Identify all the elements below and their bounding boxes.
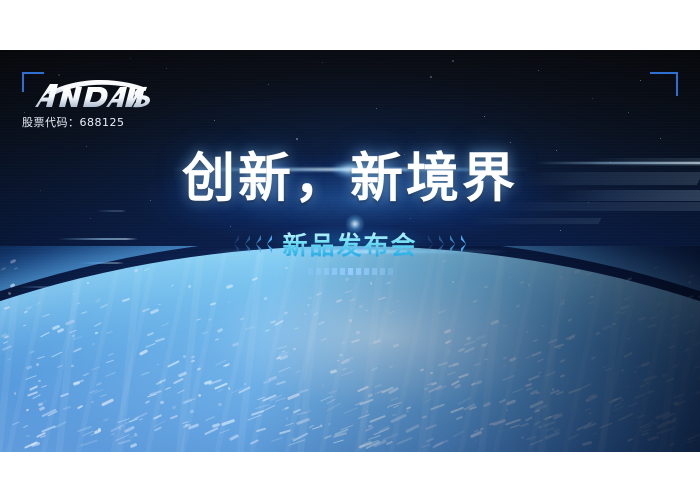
tick-dash: [356, 268, 361, 275]
chevron-right-icon: [450, 234, 459, 254]
star: [538, 70, 539, 71]
page-title: 创新，新境界: [0, 152, 700, 205]
tick-dash: [372, 268, 377, 275]
presentation-slide: 股票代码：688125 创新，新境界 新品发布会: [0, 50, 700, 452]
star: [130, 58, 131, 59]
star: [322, 62, 323, 63]
chevron-left-group: [230, 234, 272, 254]
chevron-right-icon: [461, 234, 470, 254]
star: [640, 80, 641, 81]
tick-dash: [388, 268, 393, 275]
stock-code-label: 股票代码：688125: [22, 114, 125, 130]
star: [452, 60, 454, 62]
subtitle-row: 新品发布会: [0, 226, 700, 262]
hero-title-zone: 创新，新境界 新品发布会: [0, 130, 700, 310]
page-margin-top: [0, 0, 700, 50]
star: [214, 120, 215, 121]
star: [58, 74, 60, 76]
subtitle: 新品发布会: [282, 226, 417, 262]
tick-dash: [324, 268, 329, 275]
chevron-left-icon: [252, 234, 261, 254]
tick-dash: [364, 268, 369, 275]
tick-dash: [332, 268, 337, 275]
chevron-left-icon: [241, 234, 250, 254]
tick-dash-decoration: [0, 268, 700, 275]
tick-dash: [316, 268, 321, 275]
andars-swoosh-logo: [30, 78, 150, 112]
chevron-right-group: [428, 234, 470, 254]
star: [166, 68, 167, 69]
star: [430, 76, 432, 78]
star: [24, 112, 25, 113]
star: [592, 98, 593, 99]
star: [376, 108, 377, 109]
tick-dash: [308, 268, 313, 275]
chevron-left-icon: [263, 234, 272, 254]
star: [628, 112, 629, 113]
page-margin-bottom: [0, 452, 700, 500]
tick-dash: [348, 268, 353, 275]
chevron-right-icon: [439, 234, 448, 254]
chevron-right-icon: [428, 234, 437, 254]
star: [484, 116, 485, 117]
corner-bracket-icon: [650, 72, 678, 96]
star: [268, 84, 269, 85]
tick-dash: [340, 268, 345, 275]
chevron-left-icon: [230, 234, 239, 254]
tick-dash: [380, 268, 385, 275]
